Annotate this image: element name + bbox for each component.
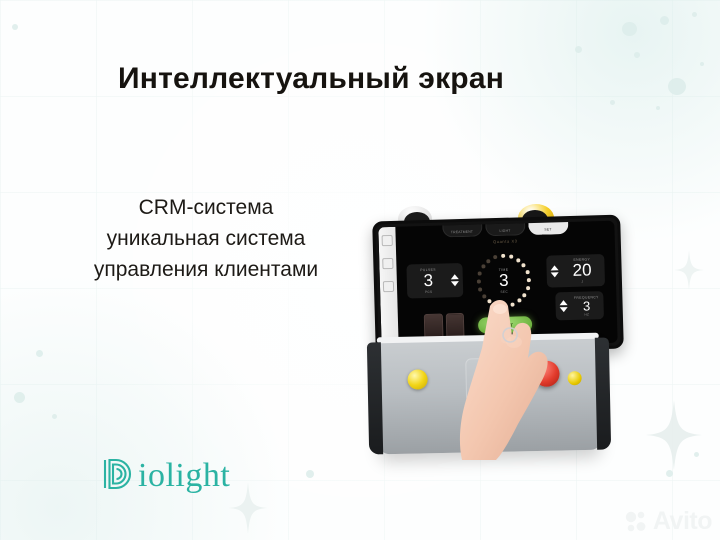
- brand-logo: iolight: [98, 455, 230, 493]
- yellow-button-left[interactable]: [407, 369, 427, 389]
- subtitle-line-3: управления клиентами: [60, 254, 352, 285]
- decor-blob: [666, 470, 673, 477]
- tab-light[interactable]: LIGHT: [485, 221, 525, 237]
- device-body-left-edge: [367, 342, 383, 454]
- decor-blob: [660, 16, 669, 25]
- history-icon[interactable]: [382, 258, 393, 269]
- subtitle-line-2: уникальная система: [60, 223, 352, 254]
- subtitle-line-1: CRM-система: [60, 192, 352, 223]
- decor-blob: [12, 24, 18, 30]
- decor-blob: [575, 46, 582, 53]
- chevron-down-icon[interactable]: [451, 281, 459, 286]
- time-values: TIME 3 SEC: [473, 267, 536, 295]
- sparkle-decor: [646, 400, 702, 470]
- decor-blob: [700, 62, 704, 66]
- energy-values: ENERGY 20 J: [562, 257, 605, 284]
- dial-dot: [487, 259, 491, 263]
- hand-pointing: [456, 292, 576, 460]
- decor-blob: [668, 78, 686, 95]
- pulses-panel[interactable]: PULSES 3 PCS: [406, 263, 463, 299]
- pulses-unit: PCS: [410, 289, 447, 294]
- decor-blob: [306, 470, 314, 478]
- decor-blob: [622, 22, 637, 36]
- energy-panel[interactable]: ENERGY 20 J: [546, 254, 605, 288]
- decor-blob: [14, 392, 25, 403]
- chevron-up-icon[interactable]: [550, 265, 558, 270]
- dial-dot: [501, 254, 505, 258]
- avito-dots-icon: [625, 510, 649, 534]
- decor-blob: [692, 12, 697, 17]
- time-value: 3: [473, 271, 535, 291]
- sparkle-decor: [674, 250, 704, 290]
- logo-d-mark-icon: [98, 455, 136, 493]
- dial-dot: [493, 255, 497, 259]
- device-body-right-edge: [595, 337, 611, 449]
- decor-blob: [634, 52, 640, 58]
- decor-blob: [610, 100, 615, 105]
- sparkle-decor: [228, 482, 268, 534]
- page-title: Интеллектуальный экран: [118, 62, 504, 96]
- avito-label: Avito: [653, 509, 712, 534]
- dial-dot: [516, 258, 520, 262]
- chevron-down-icon[interactable]: [551, 272, 559, 277]
- dial-dot: [509, 255, 513, 259]
- decor-blob: [656, 106, 660, 110]
- subtitle-block: CRM-система уникальная система управлени…: [60, 192, 352, 285]
- avito-watermark: Avito: [625, 509, 712, 534]
- screen-tabs[interactable]: TREATMENT LIGHT SET: [442, 221, 568, 238]
- slide-canvas: Интеллектуальный экран CRM-система уника…: [0, 0, 720, 540]
- screen-brand-line: Quanta X3: [493, 238, 518, 244]
- energy-value: 20: [562, 261, 601, 280]
- decor-blob: [36, 350, 43, 357]
- frequency-values: FREQUENCY 3 HZ: [571, 295, 604, 317]
- user-icon[interactable]: [382, 235, 393, 246]
- energy-unit: J: [563, 279, 602, 284]
- energy-stepper[interactable]: [546, 265, 562, 277]
- pulses-stepper[interactable]: [447, 274, 463, 286]
- logo-wordmark: iolight: [138, 459, 230, 493]
- device-photo: TREATMENT LIGHT SET Quanta X3 PULSES 3 P…: [370, 200, 620, 460]
- chevron-up-icon[interactable]: [451, 274, 459, 279]
- tab-treatment[interactable]: TREATMENT: [442, 221, 482, 238]
- settings-icon[interactable]: [383, 281, 394, 292]
- pulses-value: 3: [410, 271, 447, 290]
- tab-set[interactable]: SET: [528, 221, 568, 235]
- decor-blob: [52, 414, 57, 419]
- frequency-unit: HZ: [572, 312, 602, 317]
- pulses-values: PULSES 3 PCS: [407, 267, 448, 294]
